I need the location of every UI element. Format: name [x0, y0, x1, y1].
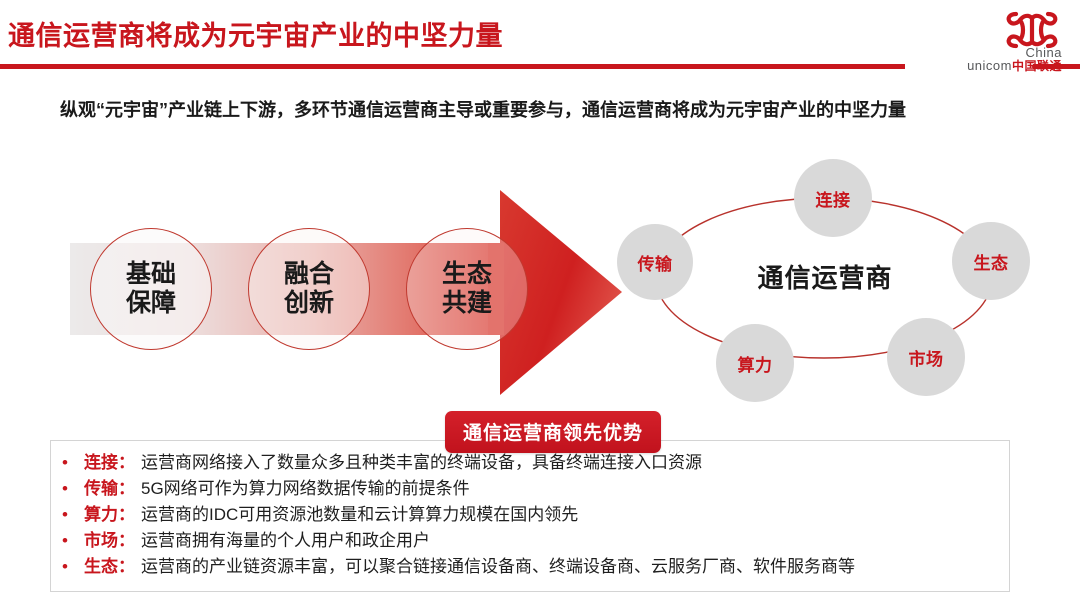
bullet-term: 市场： — [84, 528, 141, 554]
advantage-badge: 通信运营商领先优势 — [445, 411, 661, 453]
logo-line-unicom: unicom中国联通 — [967, 59, 1062, 72]
operator-ring-diagram: 连接 传输 生态 算力 市场 通信运营商 — [610, 150, 1040, 410]
header-divider-left — [0, 64, 905, 69]
list-item: • 市场： 运营商拥有海量的个人用户和政企用户 — [62, 528, 1012, 554]
bullet-description: 运营商的产业链资源丰富，可以聚合链接通信设备商、终端设备商、云服务厂商、软件服务… — [141, 554, 1012, 580]
ring-node-chuanshu[interactable]: 传输 — [617, 224, 693, 300]
ring-node-suanli[interactable]: 算力 — [716, 324, 794, 402]
list-item: • 算力： 运营商的IDC可用资源池数量和云计算算力规模在国内领先 — [62, 502, 1012, 528]
flow-stage-1-line1: 融合 — [284, 260, 334, 289]
bullet-marker: • — [62, 502, 84, 528]
logo-wordmark: China unicom中国联通 — [967, 46, 1062, 72]
bullet-marker: • — [62, 476, 84, 502]
ring-node-shengtai-label: 生态 — [974, 249, 1009, 274]
ring-node-shengtai[interactable]: 生态 — [952, 222, 1030, 300]
value-chain-arrow: 基础 保障 融合 创新 生态 共建 — [70, 185, 630, 400]
ring-center-label: 通信运营商 — [730, 258, 920, 295]
bullet-description: 运营商的IDC可用资源池数量和云计算算力规模在国内领先 — [141, 502, 1012, 528]
bullet-description: 5G网络可作为算力网络数据传输的前提条件 — [141, 476, 1012, 502]
list-item: • 生态： 运营商的产业链资源丰富，可以聚合链接通信设备商、终端设备商、云服务厂… — [62, 554, 1012, 580]
bullet-term: 生态： — [84, 554, 141, 580]
ring-node-suanli-label: 算力 — [738, 351, 773, 376]
flow-stage-2[interactable]: 生态 共建 — [406, 228, 528, 350]
ring-node-shichang-label: 市场 — [909, 345, 944, 370]
advantage-bullet-list: • 连接： 运营商网络接入了数量众多且种类丰富的终端设备，具备终端连接入口资源 … — [62, 450, 1012, 580]
flow-stage-0-line2: 保障 — [126, 289, 176, 318]
ring-node-shichang[interactable]: 市场 — [887, 318, 965, 396]
list-item: • 连接： 运营商网络接入了数量众多且种类丰富的终端设备，具备终端连接入口资源 — [62, 450, 1012, 476]
page-title: 通信运营商将成为元宇宙产业的中坚力量 — [8, 14, 503, 53]
ring-node-lianjie[interactable]: 连接 — [794, 159, 872, 237]
brand-logo: China unicom中国联通 — [916, 8, 1066, 70]
logo-chinese-name: 中国联通 — [1012, 59, 1062, 73]
flow-stage-1[interactable]: 融合 创新 — [248, 228, 370, 350]
flow-stage-1-line2: 创新 — [284, 289, 334, 318]
bullet-description: 运营商拥有海量的个人用户和政企用户 — [141, 528, 1012, 554]
ring-node-chuanshu-label: 传输 — [638, 250, 673, 275]
bullet-marker: • — [62, 450, 84, 476]
bullet-term: 传输： — [84, 476, 141, 502]
subtitle: 纵观“元宇宙”产业链上下游，多环节通信运营商主导或重要参与，通信运营商将成为元宇… — [60, 97, 1020, 125]
flow-stage-0-line1: 基础 — [126, 260, 176, 289]
flow-stage-0[interactable]: 基础 保障 — [90, 228, 212, 350]
flow-stage-2-line1: 生态 — [442, 260, 492, 289]
bullet-description: 运营商网络接入了数量众多且种类丰富的终端设备，具备终端连接入口资源 — [141, 450, 1012, 476]
bullet-term: 连接： — [84, 450, 141, 476]
bullet-marker: • — [62, 554, 84, 580]
ring-node-lianjie-label: 连接 — [816, 186, 851, 211]
flow-stage-2-line2: 共建 — [442, 289, 492, 318]
bullet-term: 算力： — [84, 502, 141, 528]
bullet-marker: • — [62, 528, 84, 554]
list-item: • 传输： 5G网络可作为算力网络数据传输的前提条件 — [62, 476, 1012, 502]
